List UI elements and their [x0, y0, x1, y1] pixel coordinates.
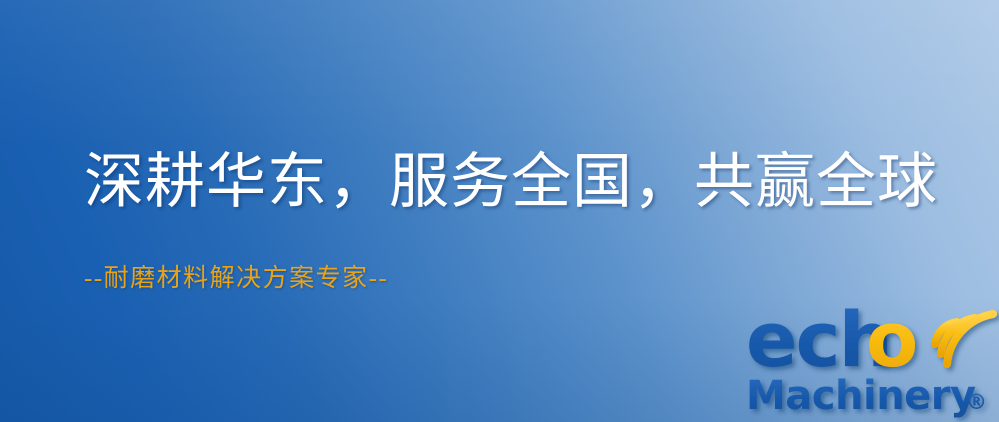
svg-text:Machinery: Machinery	[746, 373, 976, 419]
banner-headline: 深耕华东，服务全国，共赢全球	[84, 152, 938, 212]
logo-wordmark-o: o	[866, 295, 918, 384]
banner-subtitle: --耐磨材料解决方案专家--	[84, 266, 388, 291]
svg-text:®: ®	[966, 390, 987, 414]
svg-text:o: o	[866, 295, 918, 384]
echo-machinery-logo: ech o Machinery ®	[744, 288, 999, 422]
signal-wave-icon	[935, 314, 993, 364]
logo-wordmark-machinery: Machinery ®	[746, 373, 987, 419]
hero-banner: 深耕华东，服务全国，共赢全球 --耐磨材料解决方案专家--	[0, 0, 999, 422]
